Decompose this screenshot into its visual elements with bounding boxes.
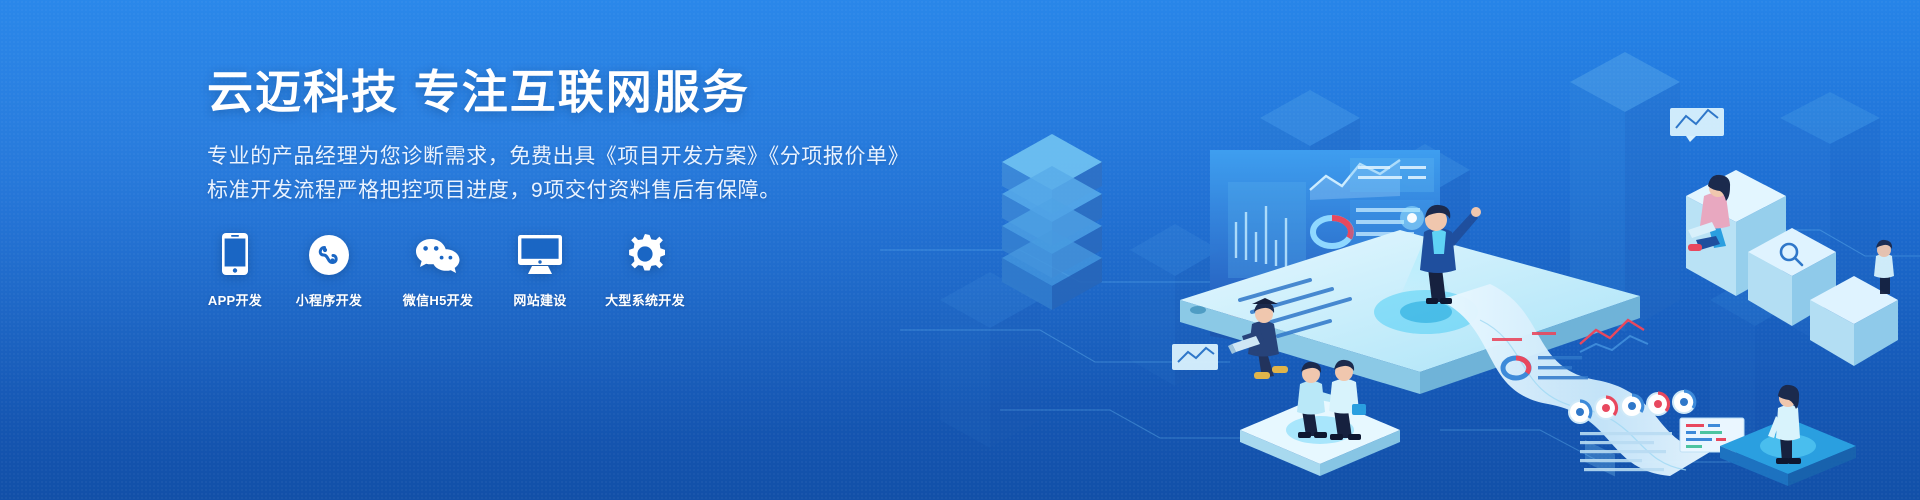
subtitle-line-2: 标准开发流程严格把控项目进度，9项交付资料售后有保障。: [207, 174, 927, 208]
monitor-icon[interactable]: [518, 231, 562, 275]
service-label-system: 大型系统开发: [605, 290, 685, 309]
hero-copy: 云迈科技 专注互联网服务 专业的产品经理为您诊断需求，免费出具《项目开发方案》《…: [207, 64, 927, 208]
service-label-miniprogram: 小程序开发: [296, 290, 363, 309]
service-label-website: 网站建设: [513, 290, 566, 309]
hero-banner: 云迈科技 专注互联网服务 专业的产品经理为您诊断需求，免费出具《项目开发方案》《…: [0, 0, 1920, 500]
service-label-wechat: 微信H5开发: [403, 290, 473, 309]
wechat-icon[interactable]: [415, 231, 461, 275]
service-item-wechat[interactable]: 微信H5开发: [395, 231, 481, 309]
gear-icon[interactable]: [624, 231, 666, 275]
floating-chart-card: [1172, 344, 1218, 370]
mobile-phone-icon[interactable]: [222, 231, 248, 275]
isometric-illustration: [880, 0, 1920, 500]
mini-program-icon[interactable]: [309, 231, 349, 275]
service-item-app[interactable]: APP开发: [207, 231, 263, 309]
service-label-app: APP开发: [208, 290, 262, 309]
service-item-website[interactable]: 网站建设: [507, 231, 573, 309]
service-item-system[interactable]: 大型系统开发: [599, 231, 691, 309]
page-title: 云迈科技 专注互联网服务: [207, 64, 927, 122]
service-icon-row: APP开发 小程序开发: [207, 231, 691, 309]
service-item-miniprogram[interactable]: 小程序开发: [289, 231, 369, 309]
server-stack: [1002, 134, 1102, 310]
hero-subtitle: 专业的产品经理为您诊断需求，免费出具《项目开发方案》《分项报价单》 标准开发流程…: [207, 140, 927, 208]
subtitle-line-1: 专业的产品经理为您诊断需求，免费出具《项目开发方案》《分项报价单》: [207, 140, 927, 174]
